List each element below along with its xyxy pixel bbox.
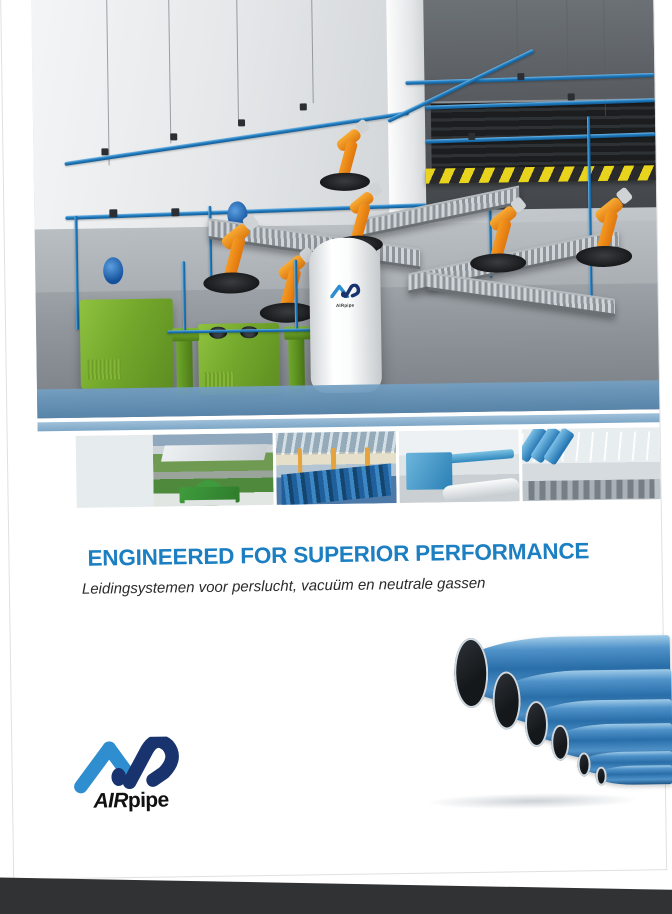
hero-image: AIRpipe	[31, 0, 659, 418]
bottom-dark-band	[0, 877, 672, 914]
airpipe-logo: AIRpipe	[72, 736, 183, 818]
logo-wordmark: AIRpipe	[79, 788, 183, 814]
thumbnail-production-hall	[522, 427, 661, 501]
pipe-bundle-item	[597, 765, 672, 785]
thumb-hall-art	[522, 427, 661, 501]
page-skew-wrapper: AIRpipe	[0, 0, 672, 914]
robot-base	[203, 273, 259, 295]
pipe-bore-icon	[454, 638, 489, 708]
pipe-clamp	[300, 104, 307, 111]
dryer-fan	[240, 326, 258, 338]
thumb-compressor-art	[399, 429, 520, 503]
pipe-bore-icon	[525, 701, 549, 747]
industrial-robot-arm	[319, 119, 370, 191]
thumb-blue-duct	[447, 449, 515, 464]
robot-base	[260, 302, 316, 322]
brochure-cover-page: AIRpipe	[0, 0, 672, 914]
strip-blank-panel	[76, 435, 163, 508]
pipe-clamp	[238, 119, 245, 126]
thumb-compressor-unit	[406, 452, 452, 490]
thumb-building	[185, 500, 235, 506]
logo-wordmark-air: AIR	[93, 789, 128, 813]
tank-wordmark: AIRpipe	[323, 303, 367, 309]
air-receiver-tank: AIRpipe	[308, 237, 382, 393]
industrial-robot-arm	[259, 246, 316, 322]
thumbnail-pipe-warehouse	[276, 431, 397, 505]
pipe-bore-icon	[551, 725, 570, 761]
robot-base	[576, 246, 632, 268]
compressor-vent	[88, 360, 122, 380]
pipe-clamp	[109, 209, 117, 217]
pipe-clamp	[170, 133, 177, 140]
pipe-clamp	[469, 133, 476, 140]
tank-logo: AIRpipe	[323, 284, 368, 309]
pipe-clamp	[102, 149, 109, 156]
industrial-robot-arm	[470, 197, 527, 273]
thumb-aerial-art	[153, 433, 274, 507]
industrial-robot-arm	[202, 214, 259, 295]
robot-base	[470, 253, 526, 273]
air-compressor-unit	[79, 299, 174, 389]
pipe-clamp	[517, 73, 524, 80]
thumb-machinery-row	[528, 479, 655, 500]
logo-wordmark-pipe: pipe	[128, 789, 169, 813]
pipe-bore-icon	[577, 752, 590, 776]
airpipe-chevron-mark-icon	[330, 284, 360, 298]
page-headline: ENGINEERED FOR SUPERIOR PERFORMANCE	[87, 538, 589, 571]
pipes-shadow	[425, 792, 640, 811]
thumbnail-strip	[37, 413, 660, 512]
thumb-warehouse-art	[276, 431, 397, 505]
pipe-bore-icon	[596, 766, 607, 785]
industrial-robot-arm	[575, 187, 632, 268]
pipe-bore-icon	[492, 671, 521, 729]
thumb-large-pipe	[442, 477, 520, 502]
pipe-clamp	[568, 93, 575, 100]
page-subheadline: Leidingsystemen voor perslucht, vacuüm e…	[82, 575, 486, 598]
paper-sheet: AIRpipe	[1, 0, 666, 879]
pipe-clamp	[171, 208, 179, 216]
thumb-roof	[161, 444, 268, 461]
dryer-fan	[209, 327, 227, 339]
thumbnail-aerial-factory-campus	[153, 433, 274, 507]
refrigerant-dryer-unit	[198, 322, 280, 395]
pipes-product-image	[418, 607, 671, 821]
airpipe-chevron-mark-icon	[72, 736, 183, 794]
thumbnail-compressor-room	[399, 429, 520, 503]
